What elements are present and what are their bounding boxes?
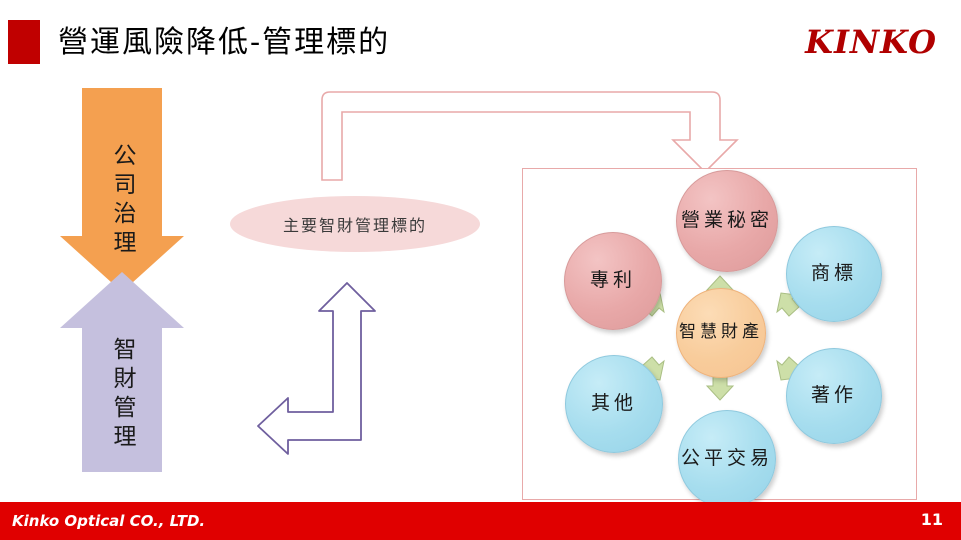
footer-company-name: Kinko Optical CO., LTD. <box>12 510 205 532</box>
ip-management-arrow-label: 智財管理 <box>60 272 184 472</box>
page-title: 營運風險降低-管理標的 <box>58 20 390 66</box>
slide: 營運風險降低-管理標的 KINKO 公司治理 智財管理 主要智財管理標的 <box>0 0 961 540</box>
diagram-node-trademark[interactable]: 商標 <box>786 226 882 322</box>
node-label: 交易 <box>727 447 773 471</box>
pink-elbow-arrow-icon <box>322 92 737 180</box>
diagram-node-copyright[interactable]: 著作 <box>786 348 882 444</box>
callout-oval: 主要智財管理標的 <box>230 196 480 252</box>
diagram-node-intellectual-property[interactable]: 智慧 財產 <box>676 288 766 378</box>
node-label: 營業 <box>681 209 727 233</box>
governance-arrow-label: 公司治理 <box>60 88 184 288</box>
diagram-node-patent[interactable]: 專利 <box>564 232 662 330</box>
diagram-node-trade-secret[interactable]: 營業 秘密 <box>676 170 778 272</box>
node-label: 其他 <box>591 392 637 416</box>
governance-arrow: 公司治理 <box>60 88 230 288</box>
page-number: 11 <box>921 509 943 531</box>
node-label: 公平 <box>681 447 727 471</box>
node-label: 智慧 <box>679 322 721 343</box>
purple-double-elbow-arrow-icon <box>258 283 375 454</box>
diagram-node-other[interactable]: 其他 <box>565 355 663 453</box>
footer-bar: Kinko Optical CO., LTD. 11 <box>0 502 961 540</box>
node-label: 專利 <box>590 269 636 293</box>
node-label: 商標 <box>811 262 857 286</box>
node-label: 著作 <box>811 384 857 408</box>
company-logo: KINKO <box>805 20 937 64</box>
ip-management-arrow: 智財管理 <box>60 272 230 472</box>
title-accent-marker <box>8 20 40 64</box>
node-label: 財產 <box>721 322 763 343</box>
diagram-node-fair-trade[interactable]: 公平 交易 <box>678 410 776 508</box>
node-label: 秘密 <box>727 209 773 233</box>
